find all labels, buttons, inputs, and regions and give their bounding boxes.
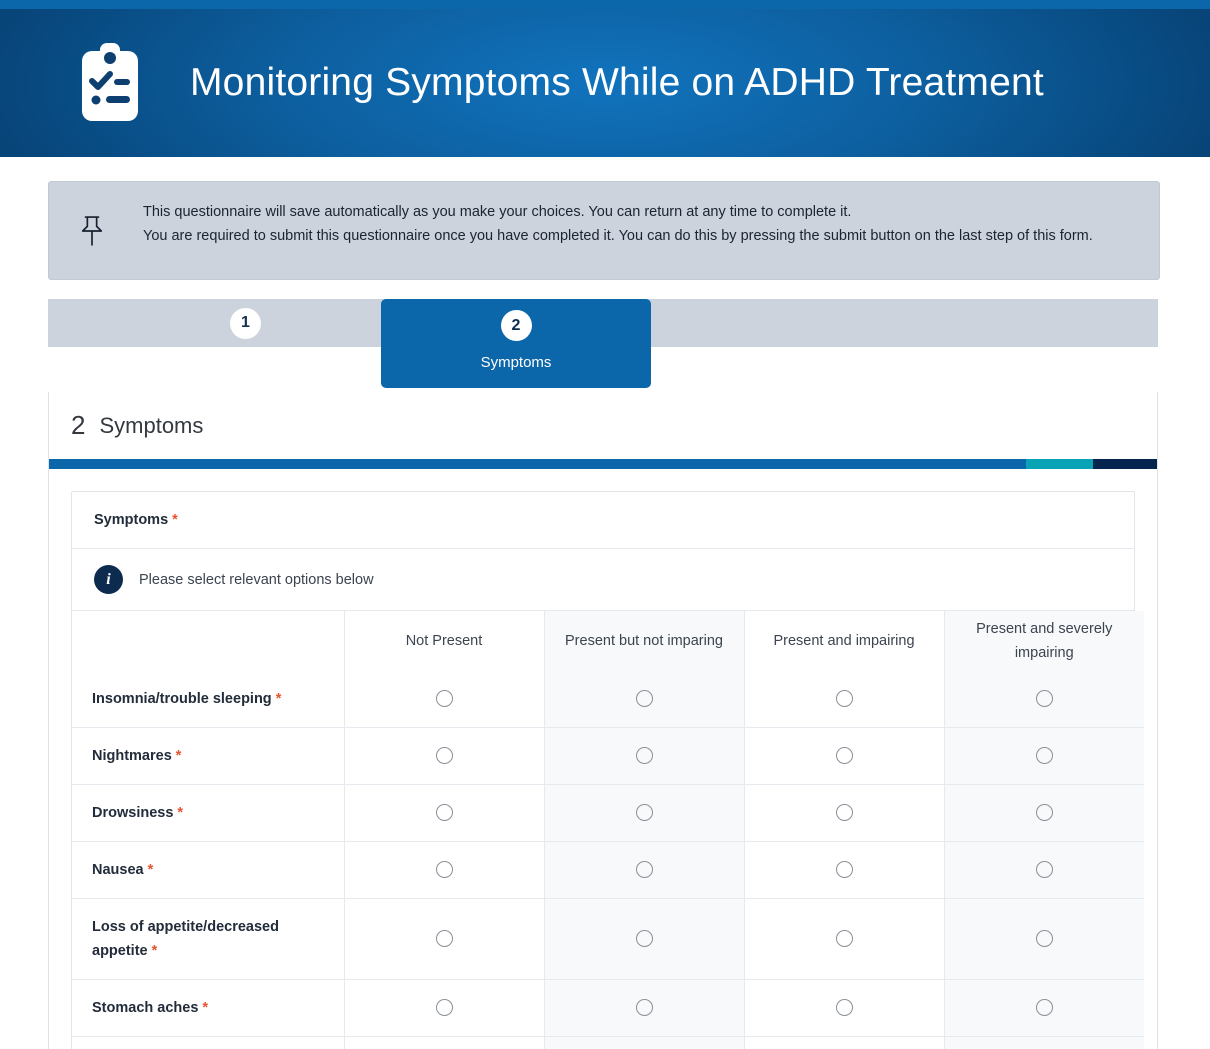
radio-button[interactable] — [1036, 804, 1053, 821]
step-2-number: 2 — [501, 310, 532, 341]
matrix-corner-cell — [72, 611, 344, 671]
required-marker: * — [172, 512, 178, 528]
matrix-body: Insomnia/trouble sleeping *Nightmares *D… — [72, 671, 1144, 1049]
notice-line-2: You are required to submit this question… — [143, 224, 1093, 248]
matrix-cell[interactable] — [744, 785, 944, 842]
matrix-row-label: Nausea * — [72, 842, 344, 899]
radio-button[interactable] — [436, 690, 453, 707]
radio-button[interactable] — [836, 999, 853, 1016]
matrix-row-label-text: Loss of appetite/decreased appetite — [92, 919, 279, 959]
matrix-cell[interactable] — [344, 1037, 544, 1049]
matrix-cell[interactable] — [944, 842, 1144, 899]
matrix-cell[interactable] — [344, 899, 544, 980]
radio-button[interactable] — [836, 930, 853, 947]
matrix-row: Stomach aches * — [72, 980, 1144, 1037]
matrix-row-label: Drowsiness * — [72, 785, 344, 842]
matrix-row: Nightmares * — [72, 728, 1144, 785]
matrix-cell[interactable] — [344, 785, 544, 842]
matrix-row-label-text: Nightmares — [92, 748, 172, 764]
radio-button[interactable] — [636, 930, 653, 947]
radio-button[interactable] — [636, 747, 653, 764]
radio-button[interactable] — [436, 747, 453, 764]
radio-button[interactable] — [436, 861, 453, 878]
radio-button[interactable] — [1036, 690, 1053, 707]
matrix-cell[interactable] — [944, 899, 1144, 980]
matrix-cell[interactable] — [544, 980, 744, 1037]
radio-button[interactable] — [636, 861, 653, 878]
matrix-row-label-text: Insomnia/trouble sleeping — [92, 691, 272, 707]
column-header-present-and-impairing: Present and impairing — [744, 611, 944, 671]
matrix-cell[interactable] — [544, 842, 744, 899]
matrix-cell[interactable] — [944, 728, 1144, 785]
matrix-cell[interactable] — [944, 671, 1144, 728]
progress-bar — [49, 459, 1157, 469]
matrix-row-label-text: Stomach aches — [92, 1000, 198, 1016]
required-marker: * — [198, 1000, 208, 1016]
radio-button[interactable] — [1036, 747, 1053, 764]
matrix-row-label: Nightmares * — [72, 728, 344, 785]
step-1-number: 1 — [230, 308, 261, 339]
matrix-row: Drowsiness * — [72, 785, 1144, 842]
matrix-row-label: Headaches * — [72, 1037, 344, 1049]
radio-button[interactable] — [636, 690, 653, 707]
info-icon: i — [94, 565, 123, 594]
step-2-label: Symptoms — [481, 354, 552, 371]
step-navigation: 1 2 Symptoms — [48, 299, 1162, 392]
question-label-text: Symptoms — [94, 512, 168, 528]
section-header: 2 Symptoms — [49, 392, 1157, 459]
auto-save-notice: This questionnaire will save automatical… — [48, 181, 1160, 280]
matrix-cell[interactable] — [344, 671, 544, 728]
matrix-cell[interactable] — [744, 728, 944, 785]
matrix-cell[interactable] — [744, 980, 944, 1037]
matrix-row-label: Stomach aches * — [72, 980, 344, 1037]
matrix-row: Headaches * — [72, 1037, 1144, 1049]
required-marker: * — [144, 862, 154, 878]
matrix-row: Nausea * — [72, 842, 1144, 899]
notice-line-1: This questionnaire will save automatical… — [143, 200, 1093, 224]
page-header: Monitoring Symptoms While on ADHD Treatm… — [0, 9, 1210, 157]
question-hint-text: Please select relevant options below — [139, 572, 374, 588]
top-accent-strip — [0, 0, 1210, 9]
progress-segment-remaining — [1093, 459, 1157, 469]
radio-button[interactable] — [1036, 861, 1053, 878]
matrix-cell[interactable] — [744, 1037, 944, 1049]
symptoms-question-block: Symptoms * i Please select relevant opti… — [71, 491, 1135, 1049]
symptoms-matrix-table: Not Present Present but not imparing Pre… — [72, 611, 1144, 1049]
matrix-cell[interactable] — [544, 785, 744, 842]
radio-button[interactable] — [636, 999, 653, 1016]
progress-segment-current — [1026, 459, 1092, 469]
matrix-cell[interactable] — [544, 671, 744, 728]
matrix-cell[interactable] — [544, 728, 744, 785]
radio-button[interactable] — [436, 999, 453, 1016]
step-tab-2[interactable]: 2 Symptoms — [381, 299, 651, 388]
matrix-cell[interactable] — [344, 980, 544, 1037]
matrix-cell[interactable] — [944, 785, 1144, 842]
pin-icon — [79, 214, 109, 253]
step-tab-1[interactable]: 1 — [138, 299, 353, 347]
matrix-cell[interactable] — [344, 842, 544, 899]
page-title: Monitoring Symptoms While on ADHD Treatm… — [190, 61, 1044, 105]
column-header-not-present: Not Present — [344, 611, 544, 671]
clipboard-checklist-icon — [78, 41, 142, 125]
radio-button[interactable] — [836, 747, 853, 764]
radio-button[interactable] — [1036, 930, 1053, 947]
matrix-cell[interactable] — [344, 728, 544, 785]
matrix-row-label: Insomnia/trouble sleeping * — [72, 671, 344, 728]
section-title: Symptoms — [99, 413, 203, 439]
radio-button[interactable] — [836, 861, 853, 878]
required-marker: * — [172, 748, 182, 764]
section-number: 2 — [71, 410, 85, 441]
required-marker: * — [272, 691, 282, 707]
radio-button[interactable] — [1036, 999, 1053, 1016]
matrix-cell[interactable] — [944, 1037, 1144, 1049]
matrix-cell[interactable] — [944, 980, 1144, 1037]
radio-button[interactable] — [836, 804, 853, 821]
column-header-present-and-severely-impairing: Present and severely impairing — [944, 611, 1144, 671]
matrix-header-row: Not Present Present but not imparing Pre… — [72, 611, 1144, 671]
radio-button[interactable] — [436, 804, 453, 821]
required-marker: * — [173, 805, 183, 821]
matrix-cell[interactable] — [544, 1037, 744, 1049]
matrix-row-label-text: Drowsiness — [92, 805, 173, 821]
question-hint: i Please select relevant options below — [72, 549, 1134, 611]
radio-button[interactable] — [836, 690, 853, 707]
matrix-cell[interactable] — [744, 899, 944, 980]
radio-button[interactable] — [636, 804, 653, 821]
matrix-row: Insomnia/trouble sleeping * — [72, 671, 1144, 728]
section-card: 2 Symptoms Symptoms * i Please select re… — [48, 392, 1158, 1049]
radio-button[interactable] — [436, 930, 453, 947]
matrix-cell[interactable] — [744, 842, 944, 899]
matrix-row: Loss of appetite/decreased appetite * — [72, 899, 1144, 980]
matrix-row-label: Loss of appetite/decreased appetite * — [72, 899, 344, 980]
question-label: Symptoms * — [72, 492, 1134, 549]
progress-segment-completed — [49, 459, 1026, 469]
matrix-cell[interactable] — [744, 671, 944, 728]
matrix-row-label-text: Nausea — [92, 862, 144, 878]
required-marker: * — [148, 943, 158, 959]
matrix-cell[interactable] — [544, 899, 744, 980]
column-header-present-but-not-imparing: Present but not imparing — [544, 611, 744, 671]
